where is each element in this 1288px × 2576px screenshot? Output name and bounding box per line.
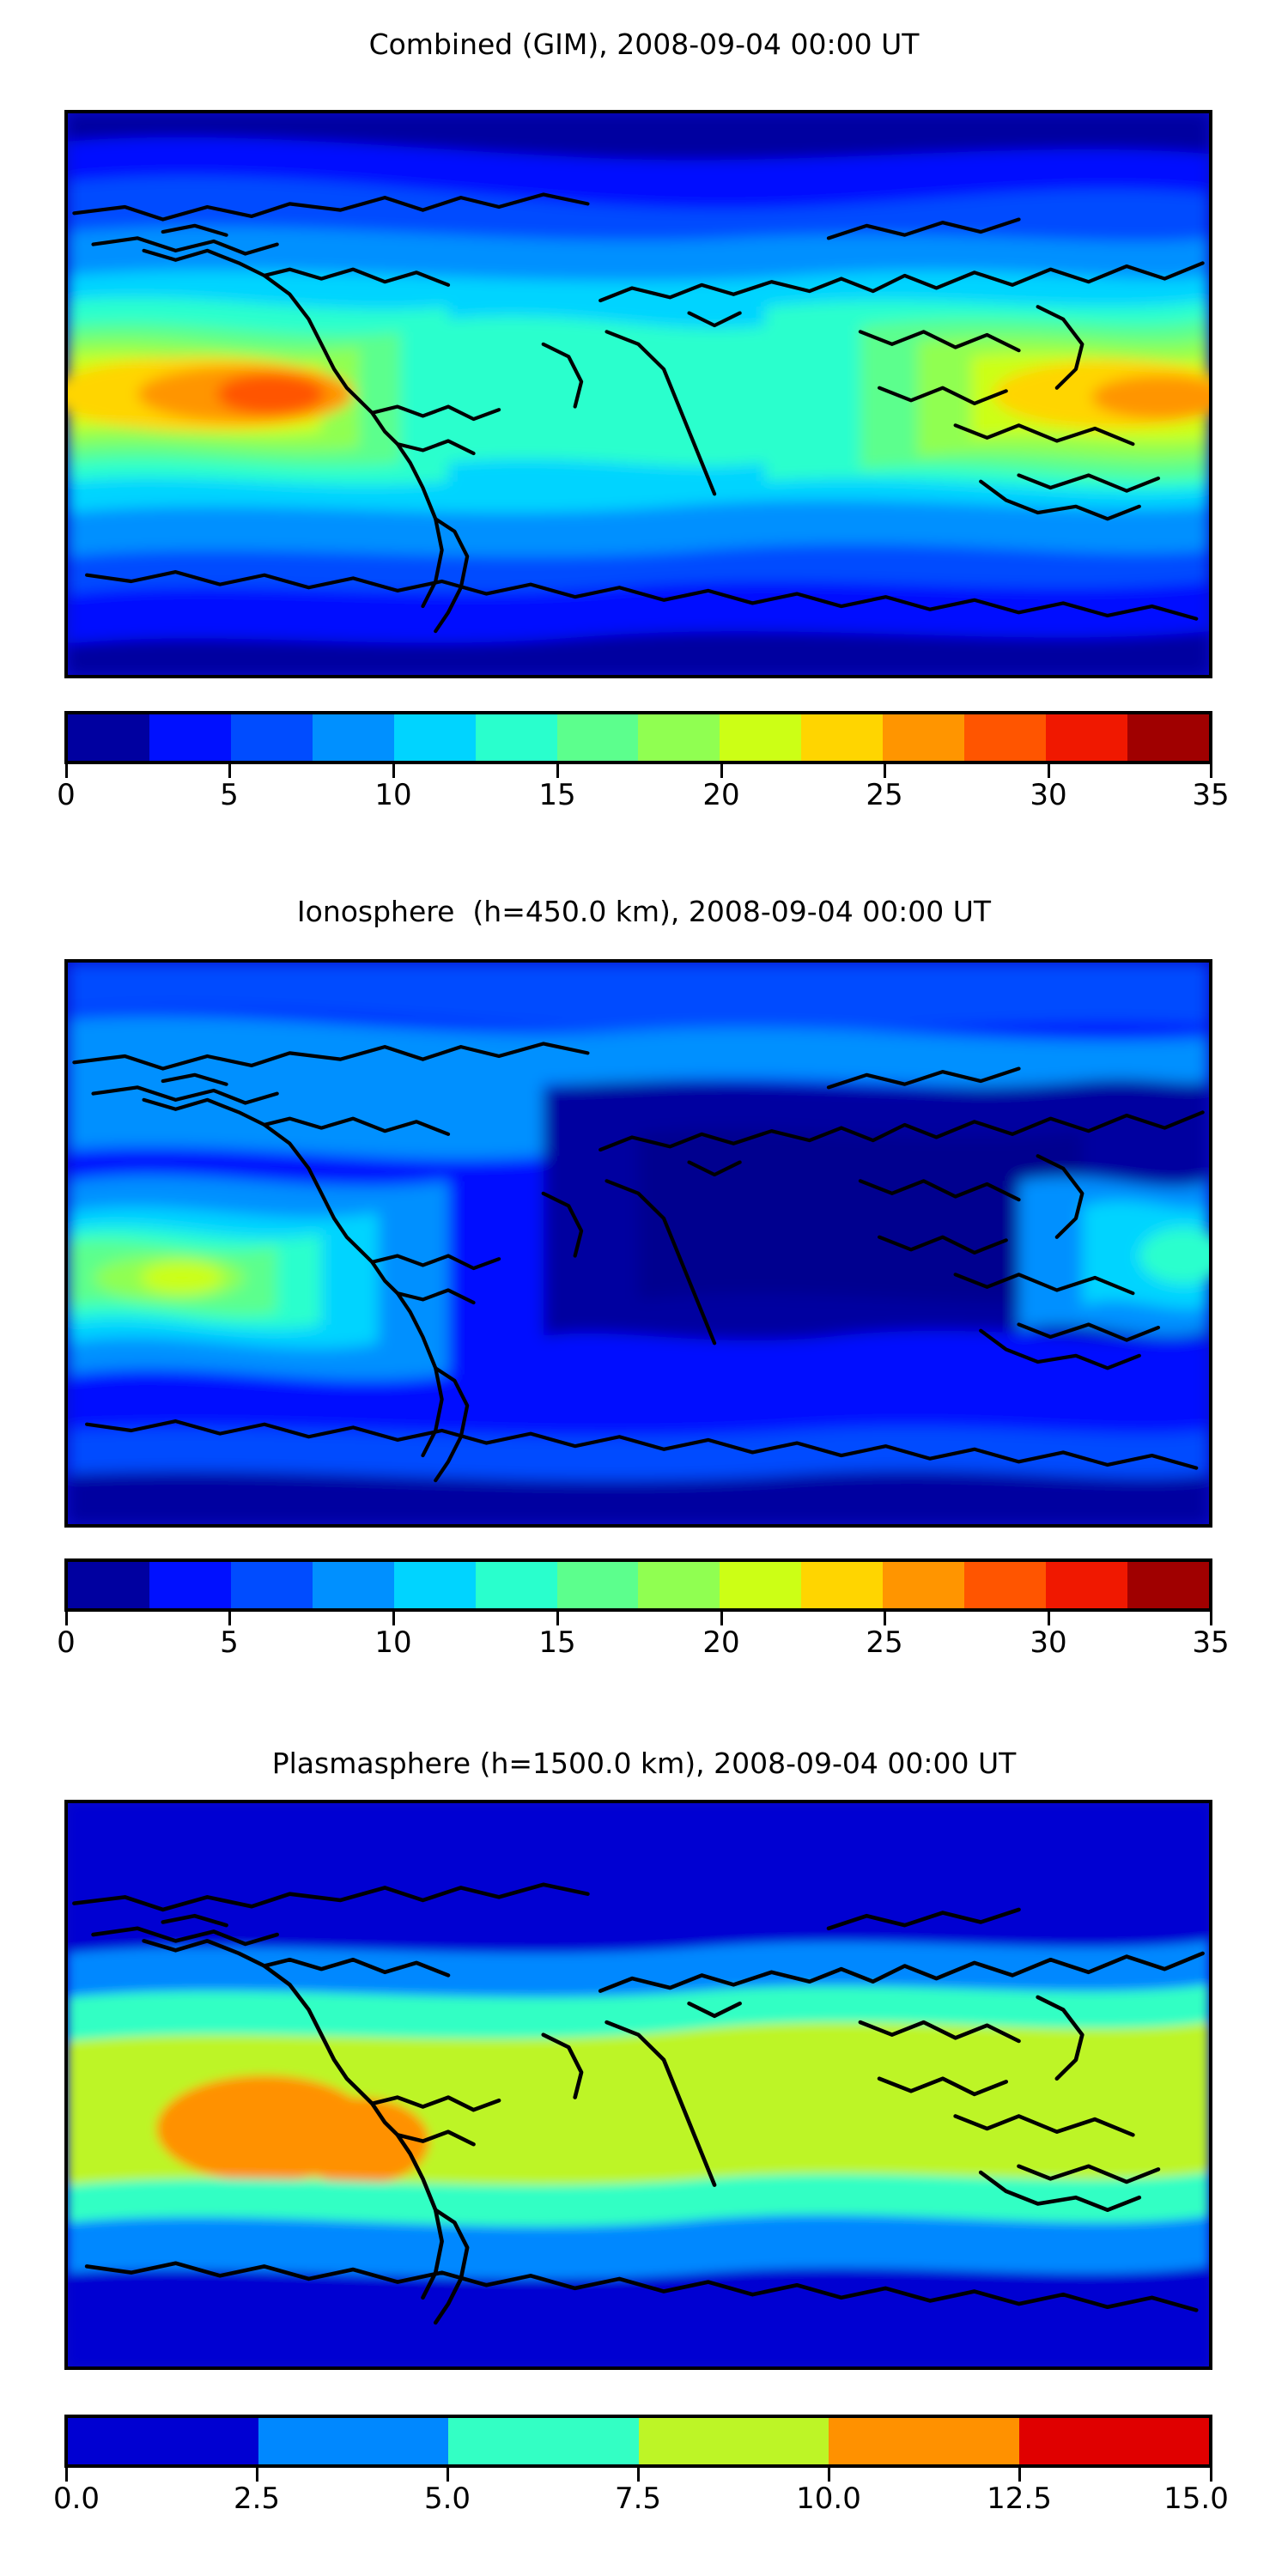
colorbar-tick-label: 15 xyxy=(538,1625,575,1660)
colorbar-ticks-2 xyxy=(64,1612,1212,1625)
colorbar-tick xyxy=(65,2468,68,2482)
colorbar-segment xyxy=(801,1562,883,1608)
colorbar-tick xyxy=(828,2468,830,2482)
colorbar-tick-label: 5 xyxy=(220,1625,239,1660)
colorbar-gradient-1 xyxy=(64,711,1212,764)
colorbar-ticks-3 xyxy=(64,2468,1212,2482)
colorbar-tick-label: 20 xyxy=(702,778,739,812)
tec-figure: Combined (GIM), 2008-09-04 00:00 UT xyxy=(0,0,1288,2576)
colorbar-labels-1: 0 5 10 15 20 25 30 35 xyxy=(64,778,1212,819)
colorbar-segment xyxy=(557,1562,639,1608)
colorbar-tick xyxy=(228,764,231,778)
colorbar-tick xyxy=(256,2468,258,2482)
contour-fill-layer-3 xyxy=(68,1803,1209,2366)
contour-fill-layer-1 xyxy=(68,113,1209,675)
colorbar-tick xyxy=(447,2468,449,2482)
colorbar-tick xyxy=(884,1612,886,1625)
colorbar-segment xyxy=(231,714,313,761)
colorbar-tick-label: 15 xyxy=(538,778,575,812)
colorbar-segment xyxy=(1019,2418,1210,2464)
colorbar-tick-label: 5 xyxy=(220,778,239,812)
colorbar-segment xyxy=(313,1562,394,1608)
colorbar-tick-label: 20 xyxy=(702,1625,739,1660)
colorbar-tick xyxy=(392,764,395,778)
colorbar-segment xyxy=(68,2418,258,2464)
colorbar-tick xyxy=(392,1612,395,1625)
colorbar-tick-label: 0.0 xyxy=(53,2482,100,2516)
colorbar-tick xyxy=(556,1612,559,1625)
contour-fill-layer-2 xyxy=(68,963,1209,1524)
map-canvas-plasmasphere xyxy=(68,1803,1209,2366)
colorbar-segment xyxy=(1127,1562,1209,1608)
colorbar-tick xyxy=(637,2468,640,2482)
colorbar-segment xyxy=(801,714,883,761)
colorbar-segment xyxy=(149,1562,231,1608)
panel-plasmasphere: Plasmasphere (h=1500.0 km), 2008-09-04 0… xyxy=(0,1717,1288,2576)
colorbar-tick-label: 30 xyxy=(1030,778,1066,812)
colorbar-segment xyxy=(720,714,801,761)
colorbar-labels-3: 0.0 2.5 5.0 7.5 10.0 12.5 15.0 xyxy=(64,2482,1212,2523)
colorbar-ticks-1 xyxy=(64,764,1212,778)
colorbar-tick xyxy=(65,1612,68,1625)
colorbar-tick-label: 10 xyxy=(374,778,411,812)
colorbar-tick xyxy=(720,764,723,778)
panel-title-combined-gim: Combined (GIM), 2008-09-04 00:00 UT xyxy=(0,27,1288,61)
colorbar-gradient-3 xyxy=(64,2415,1212,2468)
map-ionosphere xyxy=(64,959,1212,1528)
colorbar-segment xyxy=(720,1562,801,1608)
colorbar-tick-label: 7.5 xyxy=(615,2482,661,2516)
colorbar-tick-label: 10 xyxy=(374,1625,411,1660)
map-plasmasphere xyxy=(64,1800,1212,2370)
colorbar-tick-label: 25 xyxy=(866,1625,902,1660)
colorbar-segment xyxy=(883,714,964,761)
colorbar-segment xyxy=(258,2418,449,2464)
colorbar-tick-label: 0 xyxy=(57,1625,76,1660)
colorbar-tick xyxy=(556,764,559,778)
colorbar-plasmasphere: 0.0 2.5 5.0 7.5 10.0 12.5 15.0 xyxy=(64,2415,1212,2523)
map-canvas-ionosphere xyxy=(68,963,1209,1524)
colorbar-segment xyxy=(1046,1562,1127,1608)
colorbar-segment xyxy=(638,714,720,761)
colorbar-tick xyxy=(1210,764,1212,778)
colorbar-segment xyxy=(394,714,476,761)
colorbar-ionosphere: 0 5 10 15 20 25 30 35 xyxy=(64,1558,1212,1667)
colorbar-tick xyxy=(884,764,886,778)
colorbar-tick-label: 30 xyxy=(1030,1625,1066,1660)
panel-ionosphere: Ionosphere (h=450.0 km), 2008-09-04 00:0… xyxy=(0,859,1288,1717)
panel-title-ionosphere: Ionosphere (h=450.0 km), 2008-09-04 00:0… xyxy=(0,895,1288,928)
colorbar-segment xyxy=(313,714,394,761)
colorbar-tick-label: 0 xyxy=(57,778,76,812)
colorbar-tick-label: 5.0 xyxy=(424,2482,471,2516)
colorbar-segment xyxy=(829,2418,1019,2464)
map-canvas-combined-gim xyxy=(68,113,1209,675)
colorbar-segment xyxy=(231,1562,313,1608)
panel-combined-gim: Combined (GIM), 2008-09-04 00:00 UT xyxy=(0,0,1288,859)
colorbar-tick-label: 10.0 xyxy=(796,2482,861,2516)
colorbar-combined-gim: 0 5 10 15 20 25 30 35 xyxy=(64,711,1212,819)
colorbar-tick-label: 12.5 xyxy=(987,2482,1052,2516)
colorbar-segment xyxy=(476,1562,557,1608)
colorbar-tick-label: 2.5 xyxy=(234,2482,280,2516)
colorbar-segment xyxy=(964,1562,1046,1608)
colorbar-tick-label: 35 xyxy=(1192,1625,1229,1660)
colorbar-segment xyxy=(476,714,557,761)
colorbar-segment xyxy=(68,714,149,761)
colorbar-segment xyxy=(149,714,231,761)
colorbar-segment xyxy=(394,1562,476,1608)
colorbar-gradient-2 xyxy=(64,1558,1212,1612)
colorbar-segment xyxy=(964,714,1046,761)
colorbar-tick-label: 35 xyxy=(1192,778,1229,812)
colorbar-tick xyxy=(228,1612,231,1625)
colorbar-segment xyxy=(639,2418,829,2464)
colorbar-segment xyxy=(448,2418,639,2464)
colorbar-segment xyxy=(638,1562,720,1608)
panel-title-plasmasphere: Plasmasphere (h=1500.0 km), 2008-09-04 0… xyxy=(0,1747,1288,1780)
colorbar-segment xyxy=(1046,714,1127,761)
colorbar-labels-2: 0 5 10 15 20 25 30 35 xyxy=(64,1625,1212,1667)
colorbar-tick xyxy=(1210,1612,1212,1625)
colorbar-tick-label: 15.0 xyxy=(1163,2482,1229,2516)
colorbar-segment xyxy=(883,1562,964,1608)
map-combined-gim xyxy=(64,110,1212,678)
colorbar-tick xyxy=(720,1612,723,1625)
colorbar-tick xyxy=(1048,1612,1050,1625)
colorbar-segment xyxy=(68,1562,149,1608)
colorbar-segment xyxy=(1127,714,1209,761)
colorbar-tick xyxy=(1048,764,1050,778)
colorbar-segment xyxy=(557,714,639,761)
colorbar-tick xyxy=(65,764,68,778)
colorbar-tick xyxy=(1018,2468,1021,2482)
colorbar-tick xyxy=(1210,2468,1212,2482)
colorbar-tick-label: 25 xyxy=(866,778,902,812)
